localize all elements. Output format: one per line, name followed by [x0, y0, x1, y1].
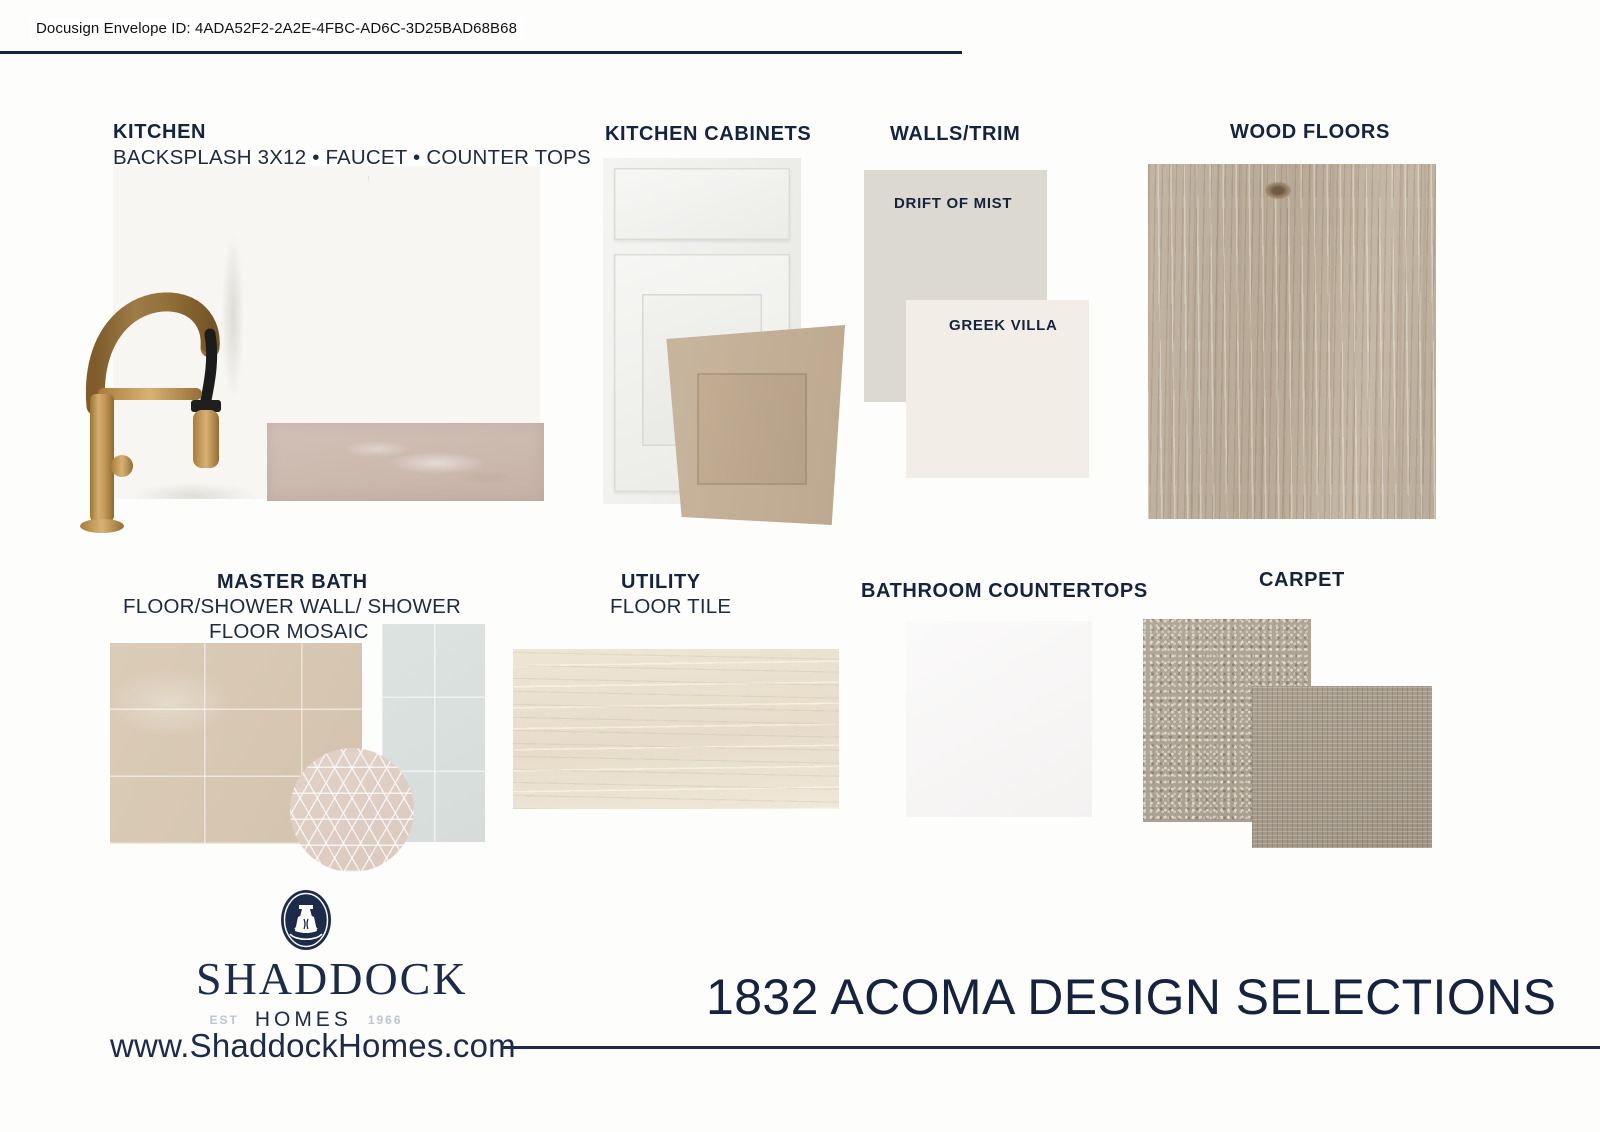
- wood-floors-title: WOOD FLOORS: [1230, 121, 1390, 144]
- brand-est-label: EST: [209, 1013, 238, 1027]
- master-bath-title: MASTER BATH: [217, 571, 368, 594]
- walls-trim-title: WALLS/TRIM: [890, 123, 1020, 146]
- shaddock-crest-icon: [278, 888, 334, 952]
- wood-floor-plank-sample: [1148, 164, 1436, 519]
- project-title: 1832 ACOMA DESIGN SELECTIONS: [706, 968, 1556, 1026]
- master-bath-subtitle-line1: FLOOR/SHOWER WALL/ SHOWER: [123, 595, 461, 619]
- carpet-sample-loop: [1252, 686, 1432, 848]
- shaddock-homes-logo: SHADDOCK EST HOMES 1966: [196, 888, 416, 1018]
- bathroom-countertop-sample: [906, 621, 1092, 817]
- utility-title: UTILITY: [621, 571, 701, 594]
- wood-knot-detail: [1265, 182, 1291, 199]
- stained-cabinet-door-sample: [655, 325, 845, 525]
- brand-est-year: 1966: [368, 1013, 403, 1027]
- brand-name-text: SHADDOCK: [196, 956, 416, 1002]
- footer-divider: [503, 1046, 1600, 1049]
- master-bath-subtitle-line2: FLOOR MOSAIC: [209, 620, 369, 644]
- paint-label-drift-of-mist: DRIFT OF MIST: [894, 195, 1012, 212]
- utility-subtitle: FLOOR TILE: [610, 595, 731, 619]
- kitchen-faucet-image: [60, 288, 250, 540]
- carpet-title: CARPET: [1259, 569, 1345, 592]
- paint-label-greek-villa: GREEK VILLA: [949, 317, 1058, 334]
- bathroom-countertops-title: BATHROOM COUNTERTOPS: [861, 580, 1148, 603]
- docusign-envelope-id: Docusign Envelope ID: 4ADA52F2-2A2E-4FBC…: [30, 18, 523, 39]
- docusign-header-bar: Docusign Envelope ID: 4ADA52F2-2A2E-4FBC…: [0, 0, 1600, 56]
- cabinet-drawer-front: [614, 168, 790, 240]
- kitchen-cabinets-title: KITCHEN CABINETS: [605, 123, 811, 146]
- utility-floor-tile-sample: [513, 649, 839, 809]
- kitchen-title: KITCHEN: [113, 121, 206, 144]
- header-divider: [0, 51, 962, 54]
- shower-floor-hex-mosaic-sample: [290, 748, 414, 872]
- website-url[interactable]: www.ShaddockHomes.com: [110, 1027, 516, 1065]
- kitchen-backsplash-tile: [267, 423, 544, 501]
